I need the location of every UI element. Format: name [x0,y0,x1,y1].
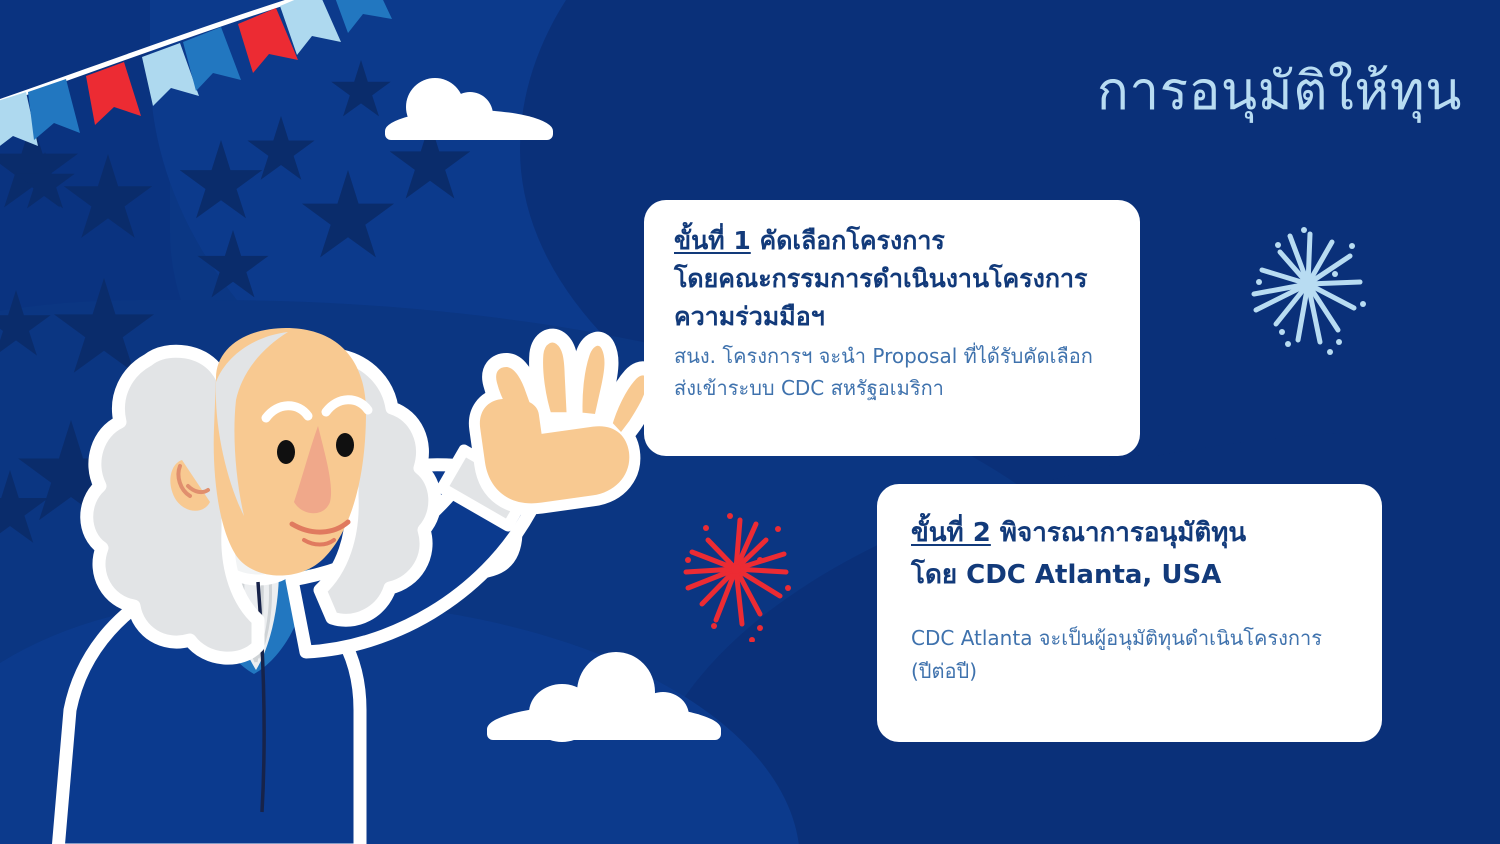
step-card-1-heading-line-2: โดยคณะกรรมการดำเนินงานโครงการ [674,260,1106,298]
step-card-2-heading-line-2: โดย CDC Atlanta, USA [911,554,1352,596]
step-card-1: ขั้นที่ 1 คัดเลือกโครงการ โดยคณะกรรมการด… [644,200,1140,456]
step-card-1-step-label: ขั้นที่ 1 [674,226,751,255]
step-card-1-body: สนง. โครงการฯ จะนำ Proposal ที่ได้รับคัด… [674,340,1106,405]
step-card-1-heading-line-1: ขั้นที่ 1 คัดเลือกโครงการ [674,222,1106,260]
step-card-2-step-label: ขั้นที่ 2 [911,518,991,548]
bunting-flag-8 [330,0,392,33]
page-title: การอนุมัติให้ทุน [1097,62,1462,123]
cloud-top [385,78,555,140]
step-card-2-body-line-1: CDC Atlanta จะเป็นผู้อนุมัติทุนดำเนินโคร… [911,622,1352,654]
step-card-2-heading-line-1: ขั้นที่ 2 พิจารณาการอนุมัติทุน [911,512,1352,554]
step-card-2-heading-rest: พิจารณาการอนุมัติทุน [991,518,1246,548]
step-card-2: ขั้นที่ 2 พิจารณาการอนุมัติทุน โดย CDC A… [877,484,1382,742]
step-card-1-body-line-1: สนง. โครงการฯ จะนำ Proposal ที่ได้รับคัด… [674,340,1106,372]
step-card-2-body: CDC Atlanta จะเป็นผู้อนุมัติทุนดำเนินโคร… [911,622,1352,687]
george-washington-illustration [30,150,650,844]
eye-right [336,433,354,457]
eye-left [277,440,295,464]
bunting-flags [0,0,392,152]
step-card-1-body-line-2: ส่งเข้าระบบ CDC สหรัฐอเมริกา [674,372,1106,404]
step-card-1-heading: ขั้นที่ 1 คัดเลือกโครงการ โดยคณะกรรมการด… [674,222,1106,336]
bunting-flag-3 [86,62,141,125]
waving-hand [465,322,650,514]
step-card-1-heading-rest: คัดเลือกโครงการ [751,226,945,255]
george-washington-svg [30,150,650,844]
firework-blue [1232,212,1382,362]
step-card-2-heading: ขั้นที่ 2 พิจารณาการอนุมัติทุน โดย CDC A… [911,512,1352,596]
step-card-2-body-line-2: (ปีต่อปี) [911,655,1352,687]
step-card-1-heading-line-3: ความร่วมมือฯ [674,298,1106,336]
slide-root: การอนุมัติให้ทุน ขั้นที่ 1 คัดเลือกโครงก… [0,0,1500,844]
firework-red [672,492,822,642]
firework-blue-svg [1232,212,1382,362]
firework-red-svg [672,492,822,642]
